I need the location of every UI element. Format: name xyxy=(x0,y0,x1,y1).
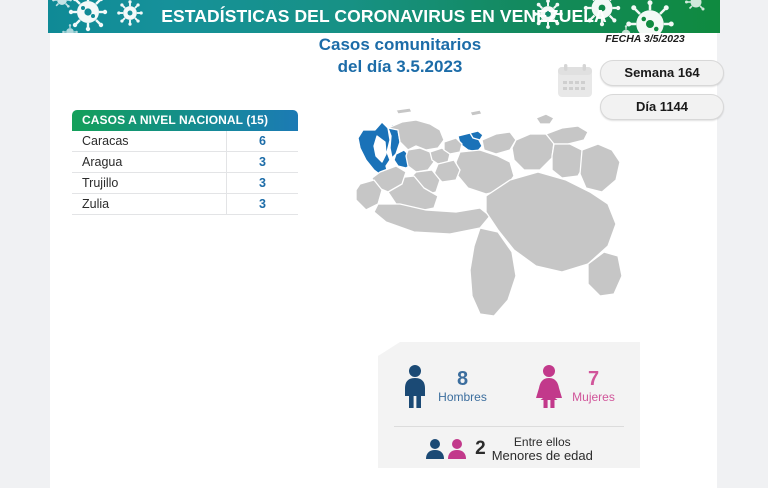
male-figure-icon xyxy=(400,364,430,410)
map-state-delta-amacuro[interactable] xyxy=(580,144,620,192)
map-state-carabobo[interactable] xyxy=(444,138,462,154)
gender-stats: 8 Hombres 7 Mujeres xyxy=(378,352,640,422)
map-state-zulia[interactable] xyxy=(358,122,390,176)
table-header: CASOS A NIVEL NACIONAL (15) xyxy=(72,110,298,131)
minors-label: Entre ellos Menores de edad xyxy=(492,435,593,463)
infographic-root: ESTADÍSTICAS DEL CORONAVIRUS EN VENEZUEL… xyxy=(0,0,768,488)
female-figure-icon xyxy=(534,364,564,410)
state-count: 3 xyxy=(226,194,298,215)
minors-stat: 2 Entre ellos Menores de edad xyxy=(378,432,640,466)
female-count: 7 xyxy=(572,369,615,390)
subtitle-line-1: Casos comunitarios xyxy=(319,35,482,54)
two-busts-icon xyxy=(425,438,469,460)
subtitle: Casos comunitarios del día 3.5.2023 xyxy=(230,34,570,78)
subtitle-line-2: del día 3.5.2023 xyxy=(230,56,570,78)
state-name: Aragua xyxy=(72,155,226,169)
state-count: 3 xyxy=(226,173,298,194)
venezuela-map xyxy=(330,100,670,335)
panel-divider xyxy=(394,426,624,427)
table-row: Trujillo 3 xyxy=(72,173,298,194)
female-stat-text: 7 Mujeres xyxy=(572,369,615,405)
national-cases-table: CASOS A NIVEL NACIONAL (15) Caracas 6 Ar… xyxy=(72,110,298,215)
female-stat: 7 Mujeres xyxy=(509,352,640,422)
fecha-label: FECHA 3/5/2023 xyxy=(580,33,710,45)
male-stat-text: 8 Hombres xyxy=(438,369,487,405)
minors-label-line-2: Menores de edad xyxy=(492,449,593,463)
male-count: 8 xyxy=(438,369,487,390)
table-row: Caracas 6 xyxy=(72,131,298,152)
header-banner: ESTADÍSTICAS DEL CORONAVIRUS EN VENEZUEL… xyxy=(48,0,720,33)
table-body: Caracas 6 Aragua 3 Trujillo 3 Zulia 3 xyxy=(72,131,298,215)
week-badge[interactable]: Semana 164 xyxy=(600,60,724,86)
demographics-panel: 8 Hombres 7 Mujeres xyxy=(378,342,640,468)
state-name: Caracas xyxy=(72,134,226,148)
map-island-margarita xyxy=(536,114,554,124)
map-state-sucre[interactable] xyxy=(546,126,588,144)
venezuela-map-svg xyxy=(330,100,670,335)
page-title: ESTADÍSTICAS DEL CORONAVIRUS EN VENEZUEL… xyxy=(48,0,720,33)
calendar-icon xyxy=(556,62,594,100)
map-island-small-1 xyxy=(396,108,412,114)
male-stat: 8 Hombres xyxy=(378,352,509,422)
female-label: Mujeres xyxy=(572,390,615,405)
minors-count: 2 xyxy=(475,439,486,459)
map-state-miranda[interactable] xyxy=(482,132,516,154)
minors-label-line-1: Entre ellos xyxy=(492,435,593,449)
table-row: Zulia 3 xyxy=(72,194,298,215)
table-row: Aragua 3 xyxy=(72,152,298,173)
map-state-anzoategui[interactable] xyxy=(512,134,554,170)
state-count: 6 xyxy=(226,131,298,152)
state-name: Zulia xyxy=(72,197,226,211)
male-label: Hombres xyxy=(438,390,487,405)
state-count: 3 xyxy=(226,152,298,173)
state-name: Trujillo xyxy=(72,176,226,190)
map-island-los-roques xyxy=(470,110,482,116)
